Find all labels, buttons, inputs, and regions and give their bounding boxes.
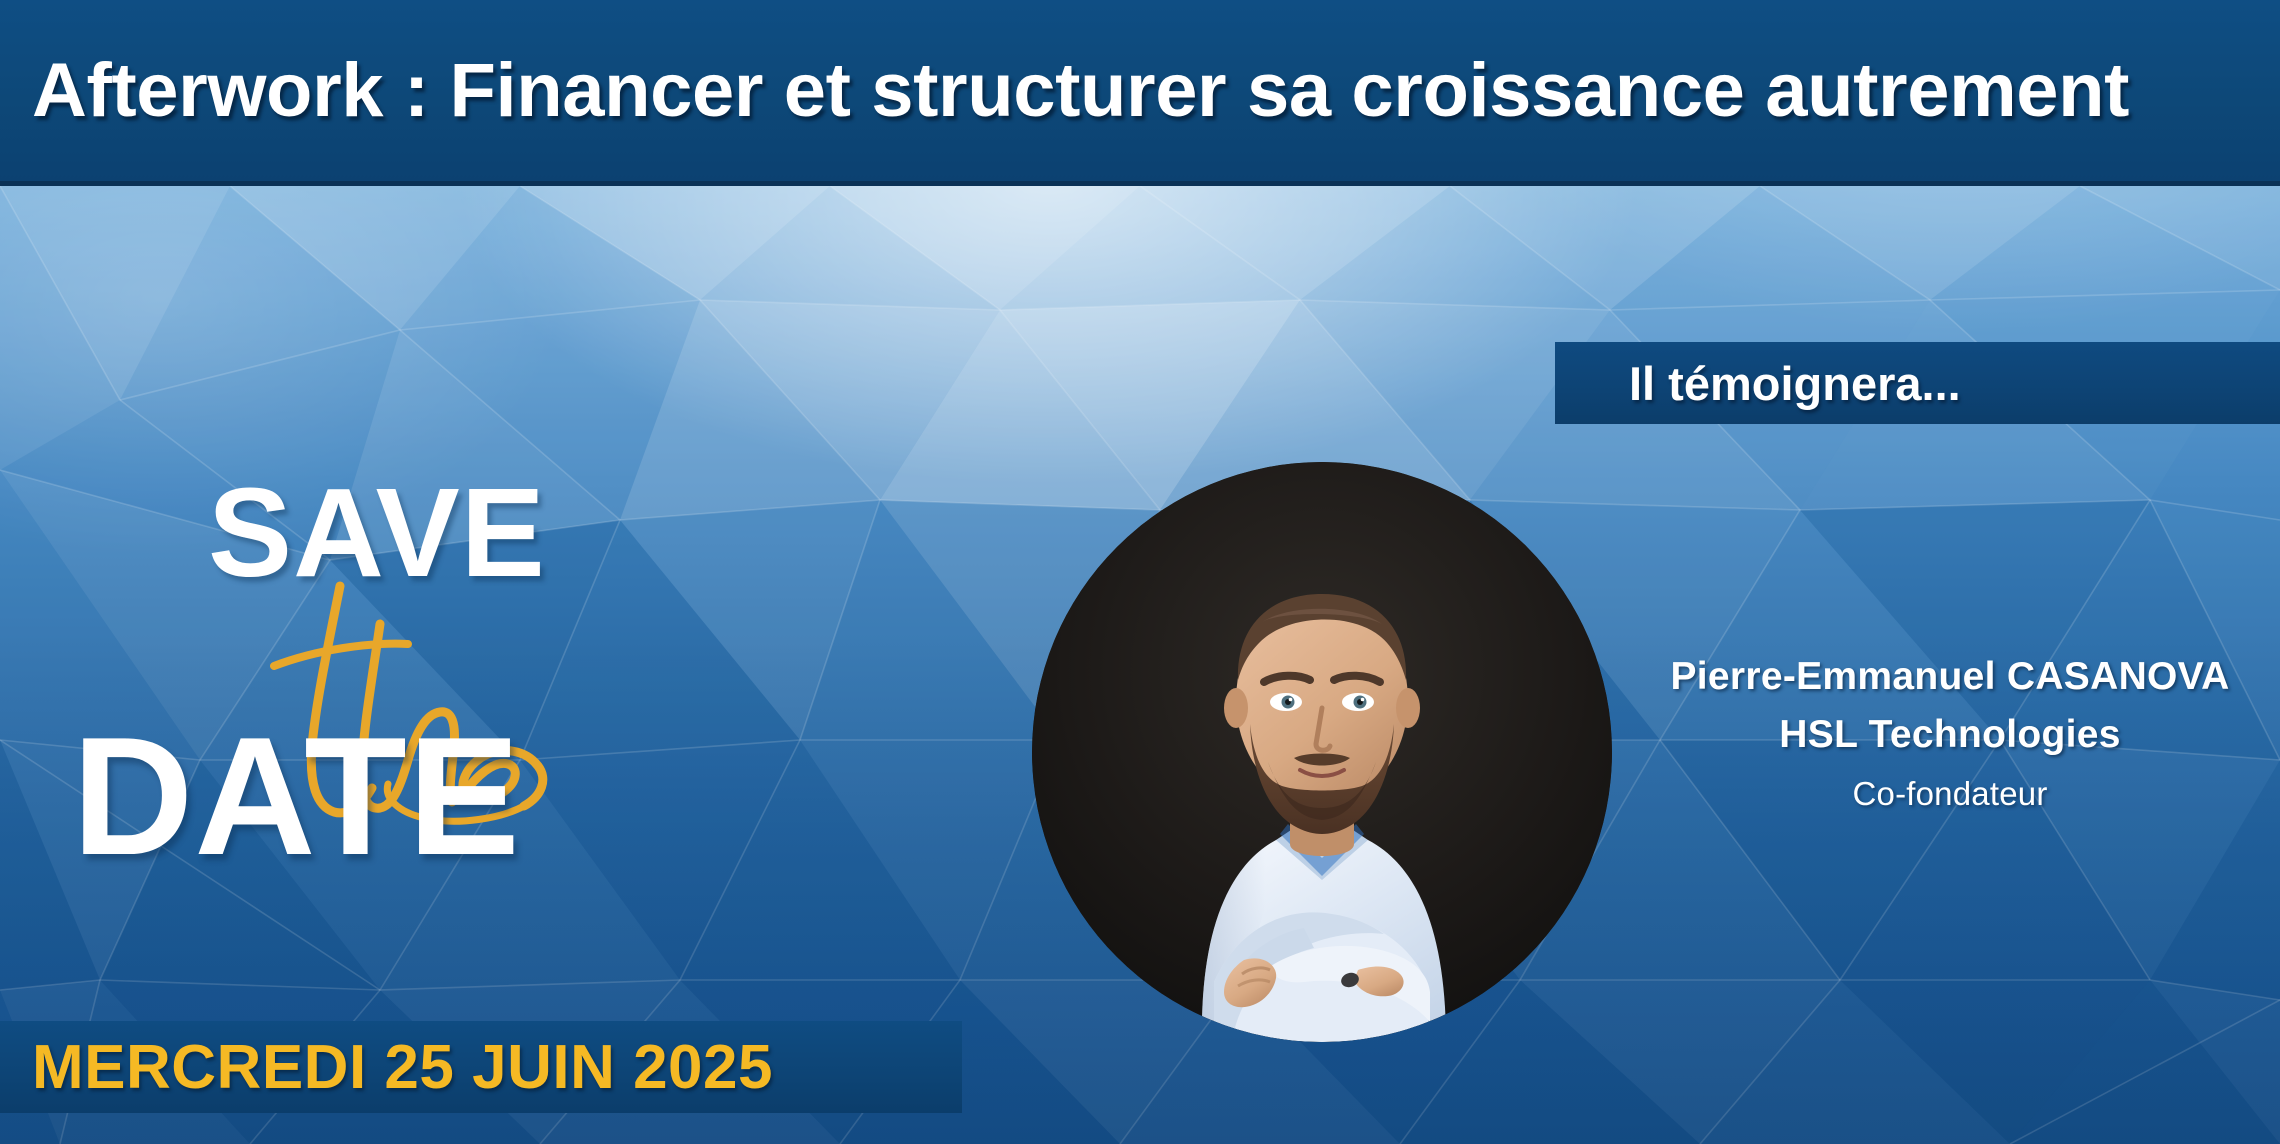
event-poster: Afterwork : Financer et structurer sa cr… — [0, 0, 2280, 1144]
speaker-info: Pierre-Emmanuel CASANOVA HSL Technologie… — [1640, 655, 2260, 813]
speaker-photo-illustration — [1032, 462, 1612, 1042]
speaker-avatar — [1032, 462, 1612, 1042]
speaker-name: Pierre-Emmanuel CASANOVA — [1640, 655, 2260, 699]
speaker-company: HSL Technologies — [1640, 713, 2260, 757]
header-bar: Afterwork : Financer et structurer sa cr… — [0, 0, 2280, 186]
event-date-ribbon: MERCREDI 25 JUIN 2025 — [0, 1021, 962, 1113]
event-date: MERCREDI 25 JUIN 2025 — [0, 1032, 773, 1103]
page-title: Afterwork : Financer et structurer sa cr… — [0, 47, 2129, 134]
date-word: DATE — [72, 712, 521, 880]
speaker-role: Co-fondateur — [1640, 775, 2260, 813]
save-the-date-block: SAVE DATE — [72, 470, 772, 920]
testimony-label: Il témoignera... — [1555, 356, 1961, 411]
testimony-bar: Il témoignera... — [1555, 342, 2280, 424]
